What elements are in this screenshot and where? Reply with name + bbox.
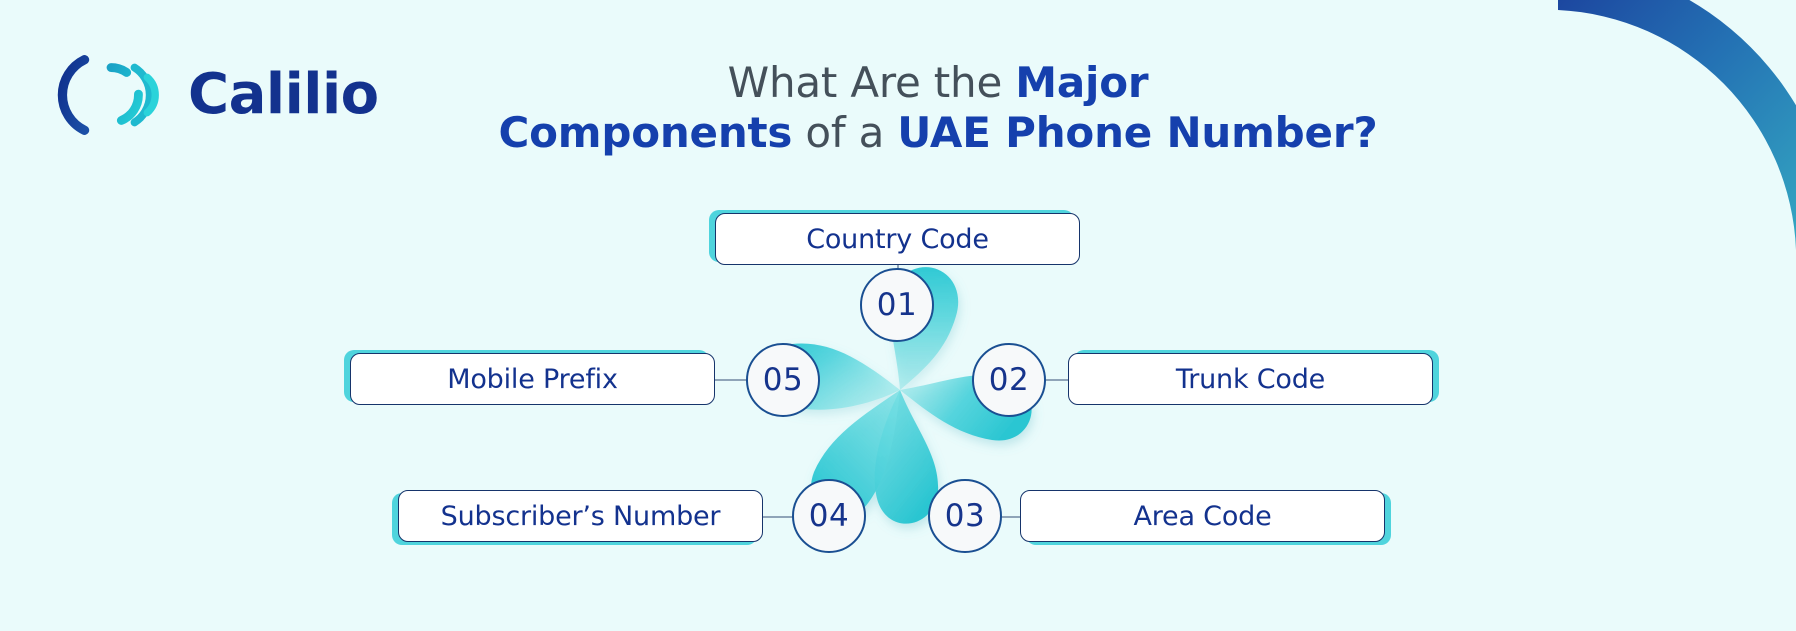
label-text-country-code: Country Code (806, 224, 989, 255)
label-box-area-code[interactable]: Area Code (1020, 490, 1385, 542)
node-03[interactable]: 03 (928, 479, 1002, 553)
node-number-03: 03 (945, 498, 985, 534)
title-plain-2: of a (792, 108, 897, 157)
page-title-line-1: What Are the Major (400, 58, 1476, 108)
page-title-line-2: Components of a UAE Phone Number? (400, 108, 1476, 158)
label-box-mobile-prefix[interactable]: Mobile Prefix (350, 353, 715, 405)
node-04[interactable]: 04 (792, 479, 866, 553)
node-number-01: 01 (877, 287, 917, 323)
node-number-02: 02 (989, 362, 1029, 398)
node-number-04: 04 (809, 498, 849, 534)
label-box-subscribers-number[interactable]: Subscriber’s Number (398, 490, 763, 542)
node-number-05: 05 (763, 362, 803, 398)
page-title: What Are the Major Components of a UAE P… (400, 58, 1476, 157)
title-strong-2b: UAE Phone Number? (897, 108, 1377, 157)
calilio-signal-logo-icon (52, 46, 170, 144)
node-05[interactable]: 05 (746, 343, 820, 417)
label-text-mobile-prefix: Mobile Prefix (447, 364, 617, 395)
title-plain-1: What Are the (728, 58, 1016, 107)
label-box-trunk-code[interactable]: Trunk Code (1068, 353, 1433, 405)
node-01[interactable]: 01 (860, 268, 934, 342)
label-text-trunk-code: Trunk Code (1176, 364, 1325, 395)
infographic-canvas: Calilio What Are the Major Components of… (0, 0, 1796, 631)
label-text-area-code: Area Code (1133, 501, 1271, 532)
brand-logo[interactable]: Calilio (52, 46, 379, 144)
title-strong-2a: Components (498, 108, 792, 157)
node-02[interactable]: 02 (972, 343, 1046, 417)
title-strong-1: Major (1015, 58, 1148, 107)
components-diagram: Country Code Trunk Code Area Code Subscr… (0, 175, 1796, 595)
label-text-subscribers-number: Subscriber’s Number (441, 501, 721, 532)
label-box-country-code[interactable]: Country Code (715, 213, 1080, 265)
brand-name: Calilio (188, 67, 379, 123)
